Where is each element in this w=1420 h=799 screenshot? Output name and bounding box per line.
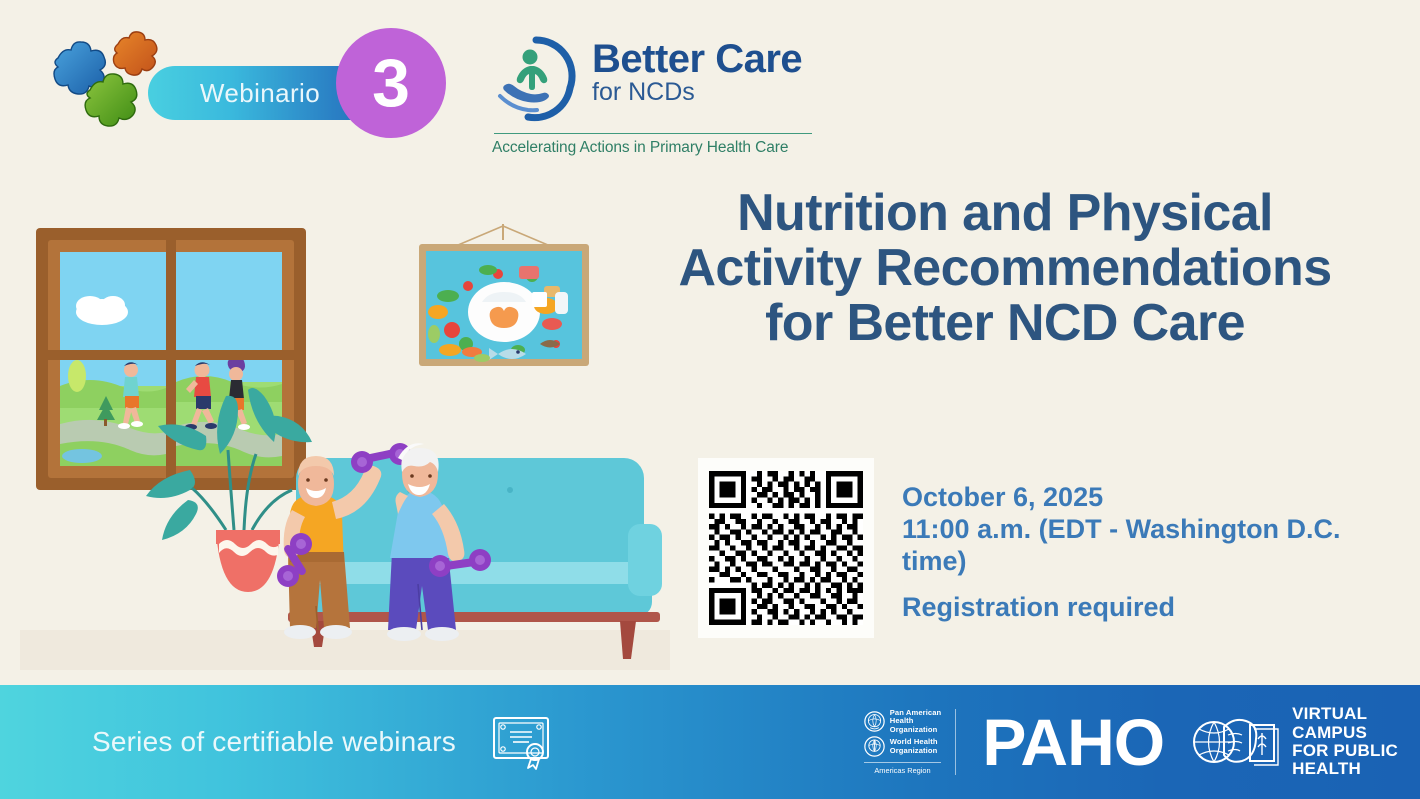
registration-qr-code[interactable] bbox=[698, 458, 874, 638]
world-health-organization-label: World Health Organization bbox=[890, 738, 938, 755]
better-care-logo: Better Care for NCDs Accelerating Action… bbox=[492, 30, 822, 160]
pan-american-health-organization-label: Pan American Health Organization bbox=[890, 709, 942, 735]
pan-american-health-seal-icon bbox=[864, 711, 885, 732]
americas-region-label: Americas Region bbox=[864, 762, 942, 775]
paho-wordmark: PAHO bbox=[982, 709, 1164, 775]
webinar-poster: Webinario 3 Better Care for NCDs Acceler… bbox=[0, 0, 1420, 799]
registration-note: Registration required bbox=[902, 592, 1354, 624]
webinar-number-badge: 3 bbox=[336, 28, 446, 138]
logo-subtitle: for NCDs bbox=[592, 79, 802, 105]
virtual-campus-mark-icon bbox=[1190, 711, 1282, 773]
event-details: October 6, 2025 11:00 a.m. (EDT - Washin… bbox=[902, 482, 1354, 623]
illustration-exercise-scene bbox=[20, 200, 670, 670]
illustration-svg bbox=[20, 200, 670, 670]
footer-series-group: Series of certifiable webinars bbox=[92, 714, 552, 770]
page-title: Nutrition and Physical Activity Recommen… bbox=[655, 186, 1355, 351]
logo-tagline: Accelerating Actions in Primary Health C… bbox=[492, 139, 822, 157]
footer-bar: Series of certifiable webinars bbox=[0, 685, 1420, 799]
paho-who-emblem: Pan American Health Organization World H… bbox=[864, 709, 957, 776]
event-time: 11:00 a.m. (EDT - Washington D.C. time) bbox=[902, 514, 1354, 578]
better-care-logo-mark bbox=[492, 32, 584, 124]
event-date: October 6, 2025 bbox=[902, 482, 1354, 514]
series-label: Series of certifiable webinars bbox=[92, 726, 456, 758]
qr-code-svg bbox=[709, 469, 863, 627]
certificate-icon bbox=[490, 714, 552, 770]
virtual-campus-label: VIRTUAL CAMPUS FOR PUBLIC HEALTH bbox=[1292, 705, 1398, 778]
world-health-organization-seal-icon bbox=[864, 736, 885, 757]
webinar-number: 3 bbox=[372, 49, 410, 117]
healthy-food-wall-art bbox=[419, 224, 589, 366]
logo-divider bbox=[494, 133, 812, 134]
logo-title: Better Care bbox=[592, 40, 802, 78]
virtual-campus-logo: VIRTUAL CAMPUS FOR PUBLIC HEALTH bbox=[1190, 705, 1398, 778]
puzzle-piece-orange bbox=[113, 32, 156, 75]
footer-logos-group: Pan American Health Organization World H… bbox=[864, 705, 1398, 778]
webinar-series-label: Webinario bbox=[200, 78, 356, 109]
window-illustration bbox=[36, 228, 306, 490]
